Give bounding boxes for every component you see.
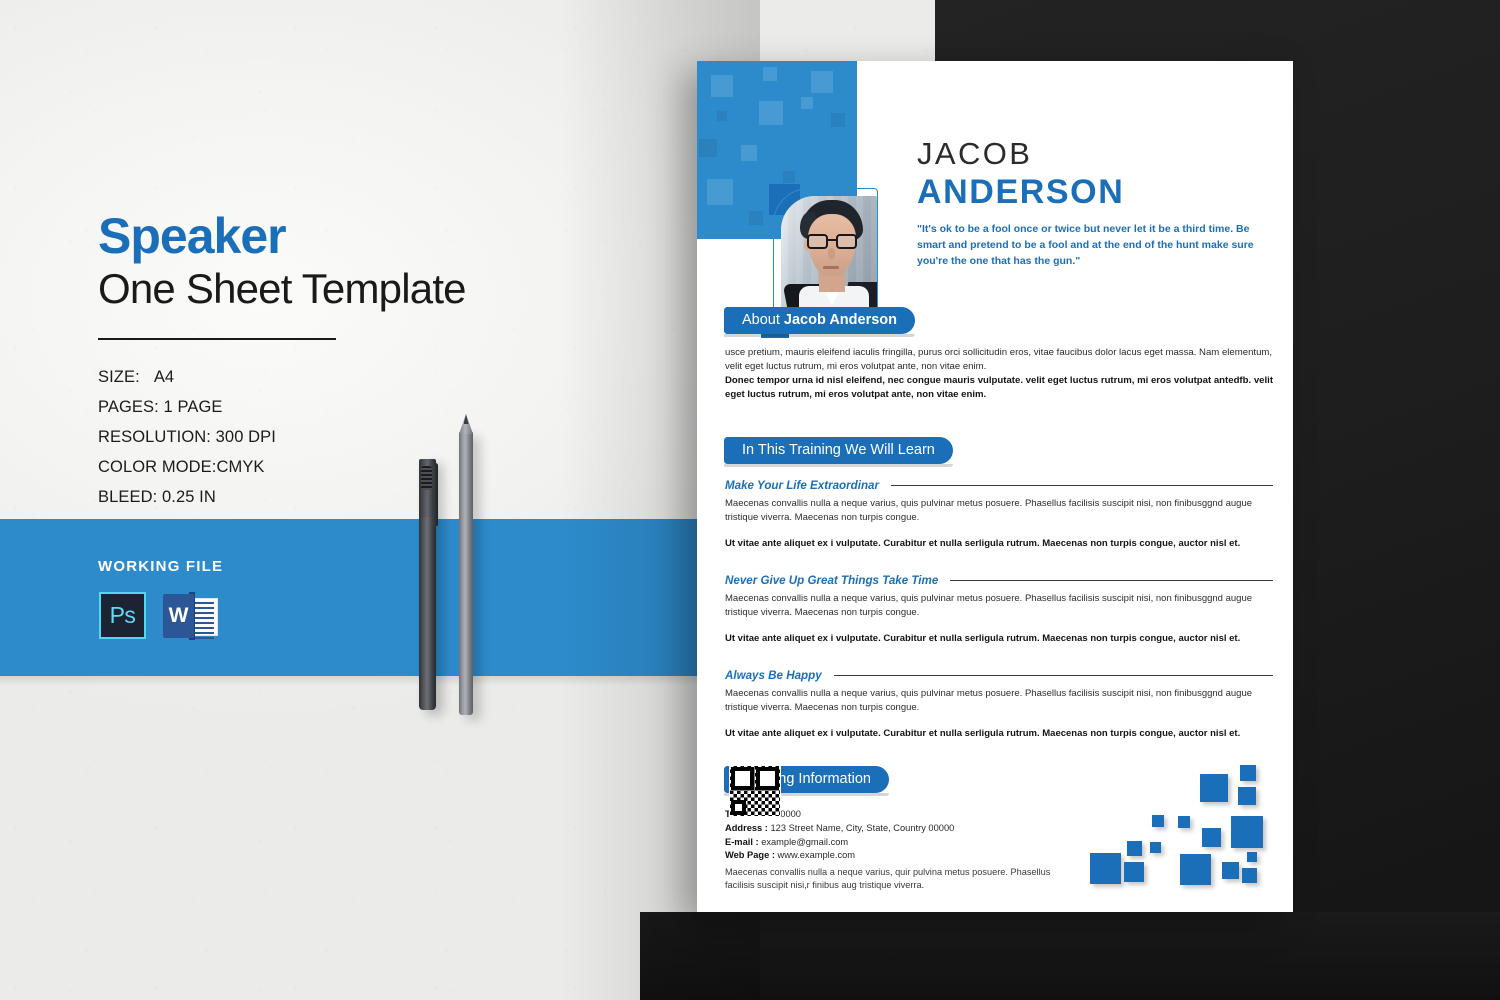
booking-web-row: Web Page : www.example.com bbox=[725, 849, 954, 863]
about-pill: About Jacob Anderson bbox=[724, 307, 915, 334]
booking-note-text: Maecenas convallis nulla a neque varius,… bbox=[725, 866, 1075, 893]
blue-band-shadow bbox=[0, 676, 700, 686]
booking-address-value: 123 Street Name, City, State, Country 00… bbox=[770, 823, 954, 833]
pen-clip bbox=[433, 463, 438, 526]
spec-key: SIZE: bbox=[98, 368, 140, 386]
spec-value: 1 PAGE bbox=[164, 398, 223, 416]
about-paragraph-2: Donec tempor urna id nisl eleifend, nec … bbox=[725, 374, 1273, 401]
training-item: Make Your Life Extraordinar Maecenas con… bbox=[725, 479, 1273, 551]
spec-list: SIZE: A4 PAGES: 1 PAGE RESOLUTION: 300 D… bbox=[98, 362, 518, 512]
training-item-rule bbox=[834, 675, 1273, 676]
speaker-name-block: JACOB ANDERSON "It's ok to be a fool onc… bbox=[917, 137, 1267, 270]
training-section-header: In This Training We Will Learn bbox=[724, 437, 953, 464]
pen-cap-grill bbox=[421, 466, 432, 490]
promo-title-main: One Sheet Template bbox=[98, 265, 518, 312]
about-paragraph-1: usce pretium, mauris eleifend iaculis fr… bbox=[725, 346, 1273, 373]
spec-value: 300 DPI bbox=[216, 428, 276, 446]
spec-row: SIZE: A4 bbox=[98, 362, 518, 392]
training-item-body: Maecenas convallis nulla a neque varius,… bbox=[725, 592, 1273, 619]
booking-email-row: E-mail : example@gmail.com bbox=[725, 836, 954, 850]
word-icon-page bbox=[191, 598, 218, 636]
booking-email-label: E-mail : bbox=[725, 837, 759, 847]
photoshop-icon-glyph: Ps bbox=[110, 602, 136, 629]
spec-row: PAGES: 1 PAGE bbox=[98, 392, 518, 422]
spec-value: A4 bbox=[154, 368, 174, 386]
about-pill-prefix: About bbox=[742, 312, 784, 328]
background-dark-strip-bottom bbox=[640, 912, 1500, 1000]
booking-address-row: Address : 123 Street Name, City, State, … bbox=[725, 822, 954, 836]
one-sheet-document: JACOB ANDERSON "It's ok to be a fool onc… bbox=[697, 61, 1293, 912]
pencil-illustration bbox=[459, 432, 473, 715]
training-item-rule bbox=[950, 580, 1273, 581]
booking-note: Maecenas convallis nulla a neque varius,… bbox=[725, 866, 1075, 893]
photoshop-icon: Ps bbox=[99, 592, 146, 639]
training-item: Always Be Happy Maecenas convallis nulla… bbox=[725, 669, 1273, 741]
training-item-bold: Ut vitae ante aliquet ex i vulputate. Cu… bbox=[725, 727, 1273, 741]
speaker-quote: "It's ok to be a fool once or twice but … bbox=[917, 222, 1257, 270]
decorative-squares bbox=[1090, 754, 1290, 899]
training-item-header: Make Your Life Extraordinar bbox=[725, 479, 1273, 492]
promo-title-accent: Speaker bbox=[98, 210, 518, 263]
word-icon-tile: W bbox=[163, 594, 194, 638]
spec-row: COLOR MODE:CMYK bbox=[98, 452, 518, 482]
training-item: Never Give Up Great Things Take Time Mae… bbox=[725, 574, 1273, 646]
word-icon-glyph: W bbox=[169, 604, 189, 628]
training-item-header: Never Give Up Great Things Take Time bbox=[725, 574, 1273, 587]
booking-email-value[interactable]: example@gmail.com bbox=[761, 837, 848, 847]
about-body: usce pretium, mauris eleifend iaculis fr… bbox=[725, 346, 1273, 401]
spec-key: PAGES: bbox=[98, 398, 159, 416]
booking-web-value[interactable]: www.example.com bbox=[778, 850, 856, 860]
training-pill: In This Training We Will Learn bbox=[724, 437, 953, 464]
promo-copy: Speaker One Sheet Template SIZE: A4 PAGE… bbox=[98, 210, 518, 512]
spec-row: RESOLUTION: 300 DPI bbox=[98, 422, 518, 452]
training-item-body: Maecenas convallis nulla a neque varius,… bbox=[725, 687, 1273, 714]
booking-web-label: Web Page : bbox=[725, 850, 775, 860]
spec-key: RESOLUTION: bbox=[98, 428, 211, 446]
spec-value: 0.25 IN bbox=[162, 488, 216, 506]
training-item-bold: Ut vitae ante aliquet ex i vulputate. Cu… bbox=[725, 632, 1273, 646]
training-item-header: Always Be Happy bbox=[725, 669, 1273, 682]
spec-row: BLEED: 0.25 IN bbox=[98, 482, 518, 512]
training-item-title: Never Give Up Great Things Take Time bbox=[725, 574, 938, 587]
booking-address-label: Address : bbox=[725, 823, 768, 833]
spec-key: COLOR MODE: bbox=[98, 458, 216, 476]
word-icon: W bbox=[163, 592, 219, 640]
training-item-title: Make Your Life Extraordinar bbox=[725, 479, 879, 492]
screenshot-stage: Speaker One Sheet Template SIZE: A4 PAGE… bbox=[0, 0, 1500, 1000]
file-icon-group: Ps W bbox=[99, 592, 219, 640]
booking-details: Tl 00-0000 Address : 123 Street Name, Ci… bbox=[725, 808, 954, 863]
training-item-bold: Ut vitae ante aliquet ex i vulputate. Cu… bbox=[725, 537, 1273, 551]
speaker-first-name: JACOB bbox=[917, 137, 1267, 171]
training-list: Make Your Life Extraordinar Maecenas con… bbox=[725, 479, 1273, 764]
speaker-last-name: ANDERSON bbox=[917, 173, 1267, 212]
about-pill-name: Jacob Anderson bbox=[784, 312, 897, 328]
speaker-photo bbox=[781, 196, 877, 325]
training-item-body: Maecenas convallis nulla a neque varius,… bbox=[725, 497, 1273, 524]
qr-code-icon[interactable] bbox=[730, 766, 780, 816]
spec-value: CMYK bbox=[216, 458, 264, 476]
about-section-header: About Jacob Anderson bbox=[724, 307, 915, 334]
training-item-title: Always Be Happy bbox=[725, 669, 822, 682]
working-file-label: WORKING FILE bbox=[98, 558, 223, 575]
training-item-rule bbox=[891, 485, 1273, 486]
spec-key: BLEED: bbox=[98, 488, 157, 506]
divider-rule bbox=[98, 338, 336, 340]
